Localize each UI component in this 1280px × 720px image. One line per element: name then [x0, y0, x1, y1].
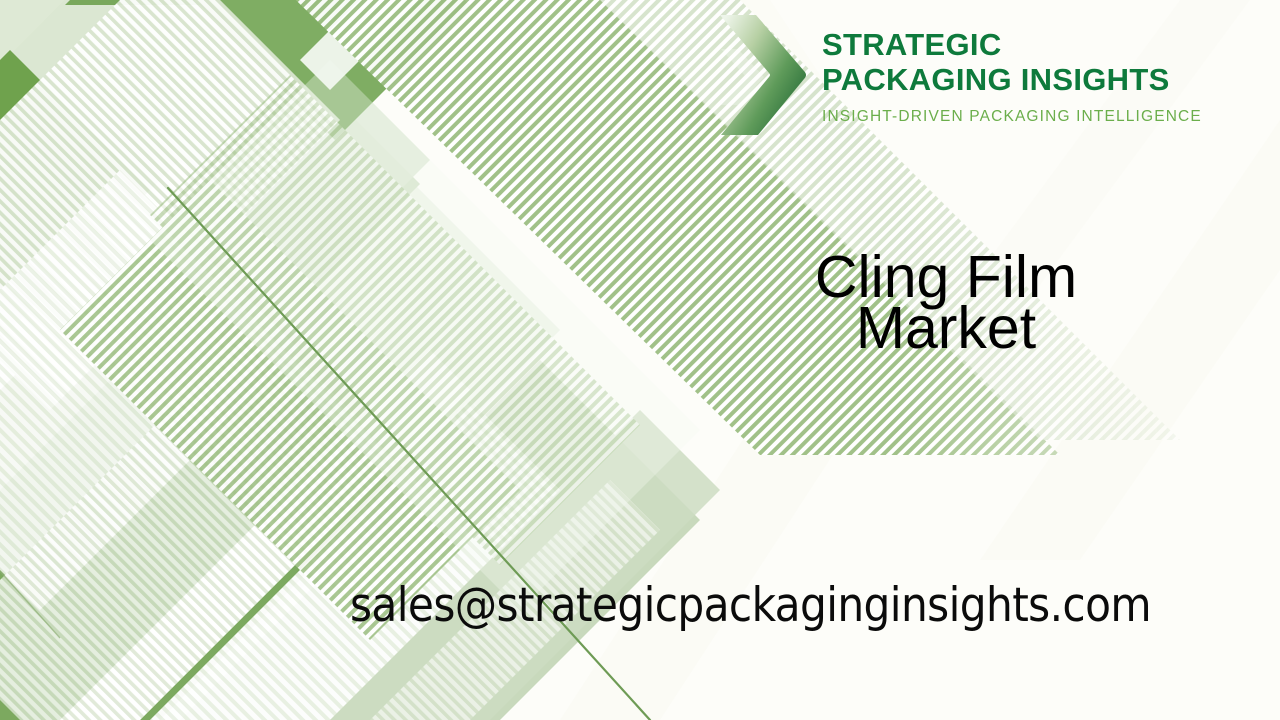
logo-line-2: PACKAGING INSIGHTS — [822, 62, 1202, 97]
logo-tagline: INSIGHT-DRIVEN PACKAGING INTELLIGENCE — [822, 108, 1202, 126]
logo-line-1: STRATEGIC — [822, 27, 1202, 62]
title-line-2: Market — [646, 303, 1246, 354]
contact-email-block: sales@strategicpackaginginsights.com — [350, 578, 1190, 634]
slide-title: Cling Film Market — [646, 252, 1246, 354]
logo-wordmark: STRATEGIC PACKAGING INSIGHTS INSIGHT-DRI… — [822, 23, 1202, 126]
contact-email[interactable]: sales@strategicpackaginginsights.com — [350, 578, 1190, 634]
title-slide: STRATEGIC PACKAGING INSIGHTS INSIGHT-DRI… — [0, 0, 1280, 720]
brand-logo: STRATEGIC PACKAGING INSIGHTS INSIGHT-DRI… — [712, 6, 1222, 142]
chevron-logo-mark-icon — [712, 9, 808, 139]
